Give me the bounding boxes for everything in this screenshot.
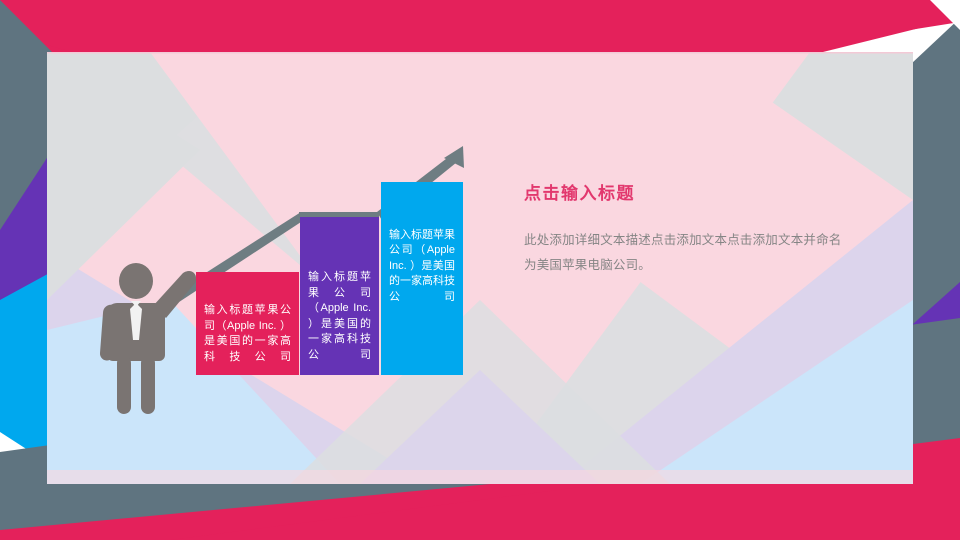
bar-1-label: 输入标题苹果公司（Apple Inc. ）是美国的一家高科技公司 xyxy=(196,303,299,375)
bar-2-label: 输入标题苹果公司（Apple Inc. ）是美国的一家高科技公司 xyxy=(300,270,379,375)
bar-3-label: 输入标题苹果公司（Apple Inc. ）是美国的一家高科技公司 xyxy=(381,228,463,376)
page-title[interactable]: 点击输入标题 xyxy=(524,182,854,206)
slide-canvas: 输入标题苹果公司（Apple Inc. ）是美国的一家高科技公司 输入标题苹果公… xyxy=(0,0,960,540)
bar-1[interactable]: 输入标题苹果公司（Apple Inc. ）是美国的一家高科技公司 xyxy=(196,272,299,375)
body-paragraph[interactable]: 此处添加详细文本描述点击添加文本点击添加文本并命名为美国苹果电脑公司。 xyxy=(524,228,842,278)
text-block: 点击输入标题 此处添加详细文本描述点击添加文本点击添加文本并命名为美国苹果电脑公… xyxy=(524,182,854,278)
bar-2[interactable]: 输入标题苹果公司（Apple Inc. ）是美国的一家高科技公司 xyxy=(300,217,379,375)
bar-3[interactable]: 输入标题苹果公司（Apple Inc. ）是美国的一家高科技公司 xyxy=(381,182,463,375)
